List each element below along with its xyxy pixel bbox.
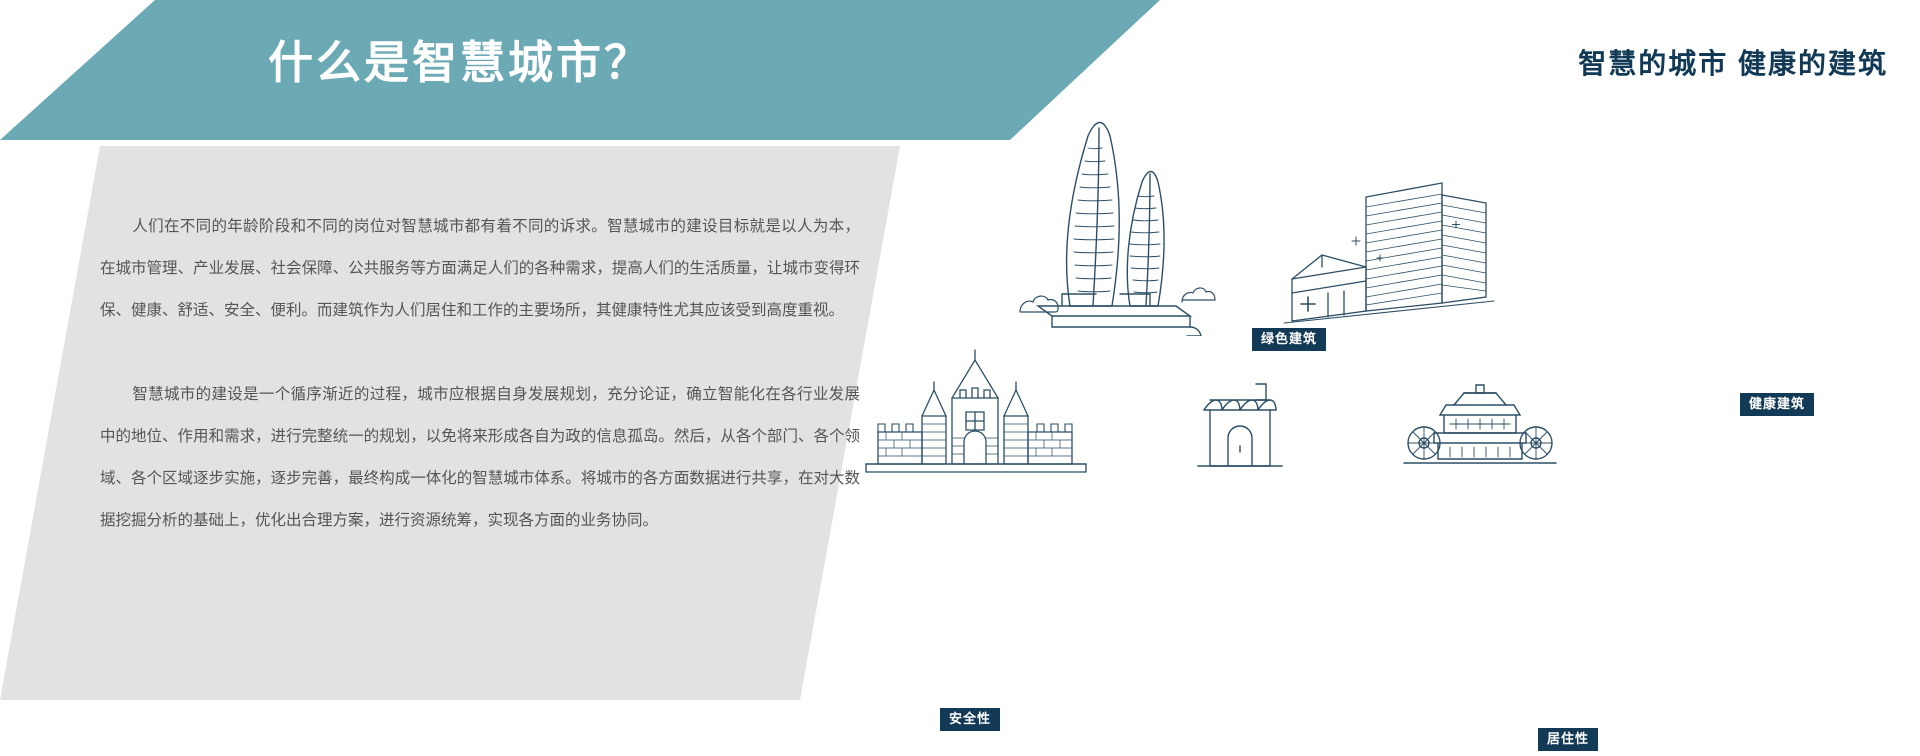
page-title: 什么是智慧城市？ <box>268 36 652 90</box>
illustration-healthy-building: 健康建筑 <box>1270 171 1520 341</box>
label-livability: 居住性 <box>1538 728 1598 751</box>
label-healthy-building: 健康建筑 <box>1740 393 1814 416</box>
castle-icon <box>840 346 1110 486</box>
paragraph-2: 智慧城市的建设是一个循序渐近的过程，城市应根据自身发展规划，充分论证，确立智能化… <box>100 374 860 542</box>
body-text-block: 人们在不同的年龄阶段和不同的岗位对智慧城市都有着不同的诉求。智慧城市的建设目标就… <box>100 206 860 542</box>
illustration-green-building: 绿色建筑 <box>1000 106 1230 336</box>
hospital-building-icon <box>1270 171 1520 341</box>
illustration-safety: 安全性 <box>840 346 1110 486</box>
paragraph-1-text: 人们在不同的年龄阶段和不同的岗位对智慧城市都有着不同的诉求。智慧城市的建设目标就… <box>100 218 860 319</box>
slide-tagline: 智慧的城市 健康的建筑 <box>1578 42 1888 82</box>
illustration-group: 绿色建筑 <box>830 96 1920 696</box>
slide-canvas: 什么是智慧城市？ 智慧的城市 健康的建筑 人们在不同的年龄阶段和不同的岗位对智慧… <box>0 0 1920 700</box>
illustration-functionality: 功能性 <box>1390 371 1570 481</box>
pavilion-icon <box>1390 371 1570 481</box>
paragraph-1: 人们在不同的年龄阶段和不同的岗位对智慧城市都有着不同的诉求。智慧城市的建设目标就… <box>100 206 860 332</box>
twisted-towers-icon <box>1000 106 1230 336</box>
label-safety: 安全性 <box>940 708 1000 731</box>
paragraph-2-text: 智慧城市的建设是一个循序渐近的过程，城市应根据自身发展规划，充分论证，确立智能化… <box>100 386 860 529</box>
illustration-livability: 居住性 <box>1170 366 1310 486</box>
house-shop-icon <box>1170 366 1310 486</box>
